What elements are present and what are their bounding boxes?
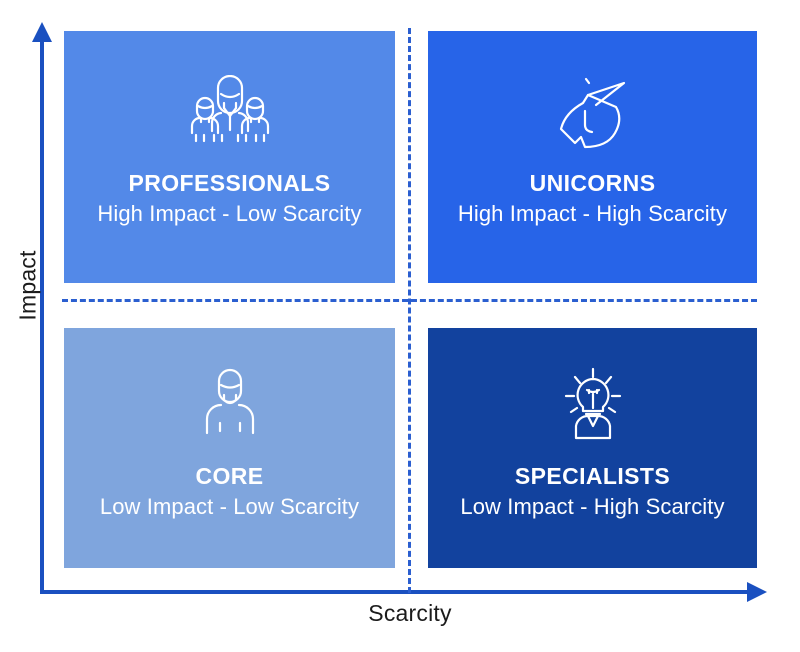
quadrant-title: UNICORNS — [530, 171, 656, 196]
x-axis-line — [40, 590, 750, 594]
quadrant-core[interactable]: CORE Low Impact - Low Scarcity — [64, 328, 395, 568]
quadrant-subtitle: High Impact - High Scarcity — [458, 201, 727, 226]
y-axis-label: Impact — [15, 236, 42, 336]
quadrant-title: PROFESSIONALS — [128, 171, 330, 196]
horizontal-divider — [62, 299, 757, 302]
quadrant-title: CORE — [195, 464, 263, 489]
unicorn-head-icon — [552, 71, 634, 149]
quadrant-subtitle: Low Impact - High Scarcity — [460, 494, 724, 519]
lightbulb-person-icon — [558, 364, 628, 442]
vertical-divider — [408, 28, 411, 593]
quadrant-unicorns[interactable]: UNICORNS High Impact - High Scarcity — [428, 31, 757, 283]
quadrant-subtitle: High Impact - Low Scarcity — [97, 201, 361, 226]
quadrant-title: SPECIALISTS — [515, 464, 670, 489]
quadrant-professionals[interactable]: PROFESSIONALS High Impact - Low Scarcity — [64, 31, 395, 283]
quadrant-subtitle: Low Impact - Low Scarcity — [100, 494, 359, 519]
x-axis-arrow-icon — [747, 582, 767, 602]
talent-quadrant-matrix: Impact Scarcity — [0, 0, 800, 652]
single-person-icon — [199, 364, 261, 442]
x-axis-label: Scarcity — [330, 600, 490, 627]
quadrant-specialists[interactable]: SPECIALISTS Low Impact - High Scarcity — [428, 328, 757, 568]
group-of-people-icon — [184, 71, 276, 149]
